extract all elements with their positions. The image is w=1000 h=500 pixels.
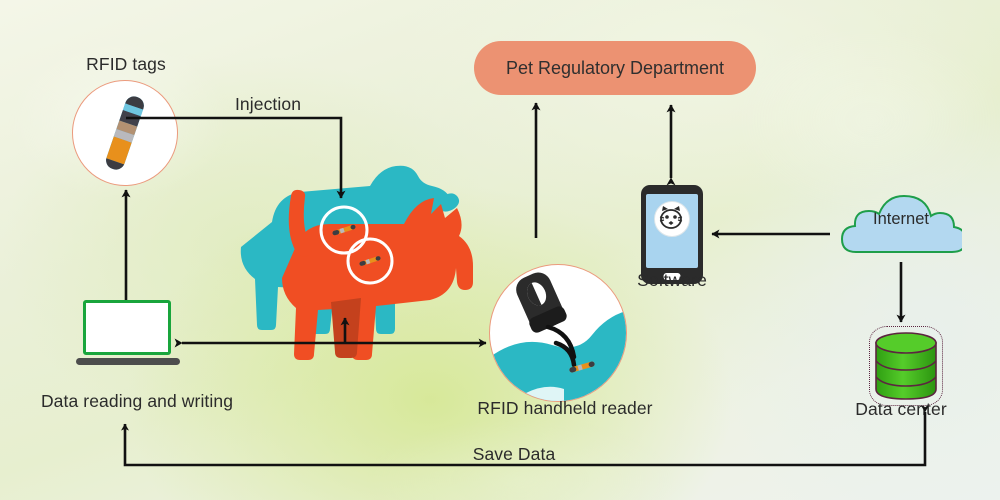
- connectors-group: [0, 0, 1000, 500]
- save-data-label: Save Data: [473, 444, 556, 465]
- injection-arrow: [126, 118, 341, 198]
- injection-label: Injection: [235, 94, 301, 115]
- internet-label: Internet: [840, 210, 962, 229]
- diagram-canvas: RFID tags Pet Regulatory Department Data…: [0, 0, 1000, 500]
